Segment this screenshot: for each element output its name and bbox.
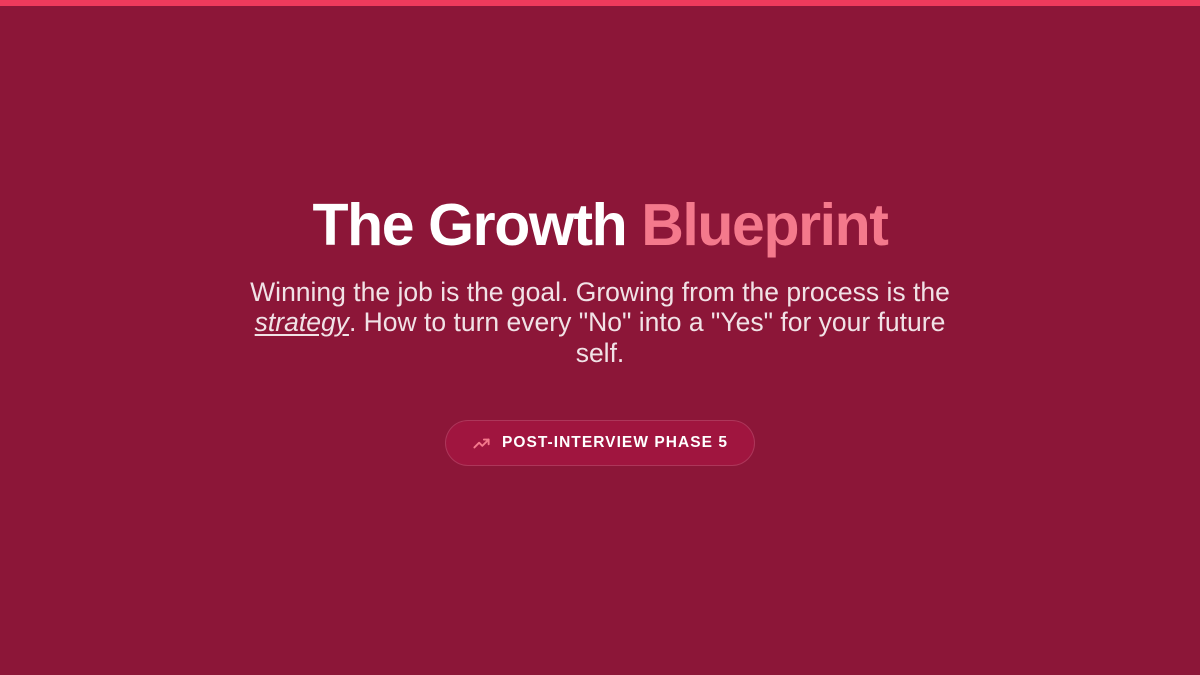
status-badge-label: POST-INTERVIEW PHASE 5: [502, 434, 728, 452]
subtitle-tail: . How to turn every "No" into a "Yes" fo…: [349, 307, 945, 368]
hero-slide: The Growth Blueprint Winning the job is …: [0, 6, 1200, 675]
subtitle-lead: Winning the job is the goal. Growing fro…: [250, 277, 950, 307]
page-title: The Growth Blueprint: [312, 194, 887, 258]
status-badge[interactable]: POST-INTERVIEW PHASE 5: [445, 420, 755, 466]
page-subtitle: Winning the job is the goal. Growing fro…: [237, 277, 963, 369]
trending-up-icon: [472, 434, 491, 453]
subtitle-emphasis-word: strategy: [255, 307, 349, 337]
hero-content: The Growth Blueprint Winning the job is …: [0, 194, 1200, 466]
page-title-primary: The Growth: [312, 192, 641, 258]
page-title-accent: Blueprint: [641, 192, 887, 258]
